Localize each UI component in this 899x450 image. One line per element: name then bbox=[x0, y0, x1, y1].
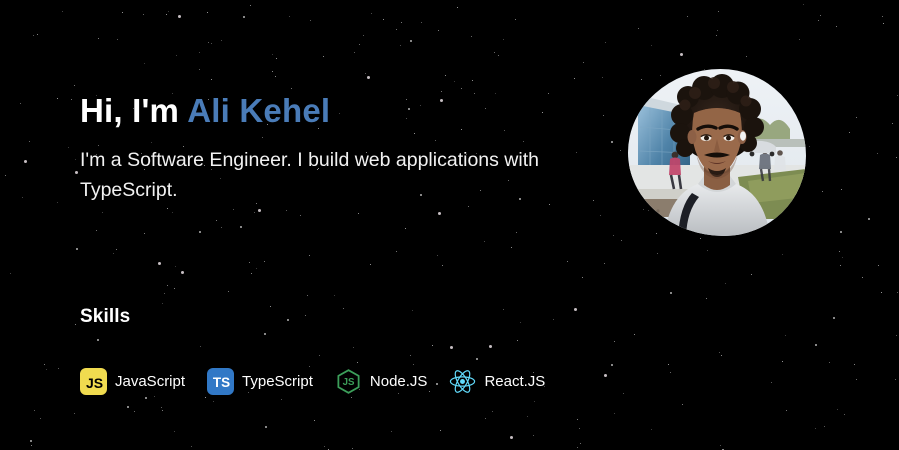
star bbox=[213, 401, 214, 402]
star bbox=[785, 335, 786, 336]
star bbox=[621, 240, 622, 241]
star bbox=[74, 85, 75, 86]
star bbox=[670, 292, 672, 294]
star bbox=[240, 226, 242, 228]
star bbox=[122, 12, 123, 13]
star bbox=[75, 171, 78, 174]
star bbox=[275, 76, 276, 77]
star bbox=[582, 277, 583, 278]
star bbox=[438, 212, 441, 215]
star bbox=[243, 16, 245, 18]
star bbox=[166, 14, 167, 15]
star bbox=[62, 11, 63, 12]
star bbox=[175, 266, 176, 267]
star bbox=[116, 249, 117, 250]
star bbox=[207, 12, 208, 13]
star bbox=[614, 341, 615, 342]
star bbox=[250, 5, 251, 6]
star bbox=[803, 4, 804, 5]
headline-greeting: Hi, I'm bbox=[80, 92, 187, 129]
star bbox=[400, 45, 401, 46]
skills-heading: Skills bbox=[80, 306, 545, 328]
star bbox=[883, 23, 884, 24]
star bbox=[623, 393, 624, 394]
star bbox=[856, 117, 857, 118]
star bbox=[401, 22, 402, 23]
star bbox=[272, 71, 273, 72]
star bbox=[725, 283, 726, 284]
star bbox=[897, 292, 898, 293]
star bbox=[700, 238, 701, 239]
star bbox=[620, 150, 621, 151]
star bbox=[98, 38, 99, 39]
star bbox=[310, 20, 311, 21]
star bbox=[892, 123, 893, 124]
star bbox=[786, 410, 787, 411]
star bbox=[840, 231, 842, 233]
star bbox=[24, 160, 27, 163]
skill-item-javascript[interactable]: JS JavaScript bbox=[80, 368, 185, 395]
star bbox=[687, 16, 688, 17]
star bbox=[553, 319, 554, 320]
star bbox=[143, 14, 144, 15]
star bbox=[324, 446, 325, 447]
profile-photo bbox=[628, 69, 806, 236]
star bbox=[363, 35, 364, 36]
skill-label: JavaScript bbox=[115, 374, 185, 389]
star bbox=[191, 446, 192, 447]
star bbox=[265, 426, 267, 428]
star bbox=[510, 436, 513, 439]
star bbox=[323, 56, 324, 57]
star bbox=[613, 235, 614, 236]
star bbox=[604, 374, 607, 377]
star bbox=[96, 230, 97, 231]
star bbox=[815, 344, 817, 346]
star bbox=[836, 26, 837, 27]
star bbox=[365, 73, 366, 74]
star bbox=[181, 271, 184, 274]
star bbox=[57, 98, 58, 99]
hero-subtitle: I'm a Software Engineer. I build web app… bbox=[80, 130, 610, 205]
star bbox=[719, 352, 720, 353]
star bbox=[682, 404, 683, 405]
star bbox=[454, 81, 455, 82]
star bbox=[44, 364, 45, 365]
star bbox=[383, 19, 384, 20]
star bbox=[291, 88, 292, 89]
star bbox=[134, 411, 135, 412]
star bbox=[438, 30, 439, 31]
star bbox=[396, 251, 397, 252]
star bbox=[839, 251, 840, 252]
star bbox=[40, 418, 41, 419]
star bbox=[515, 19, 516, 20]
star bbox=[421, 22, 422, 23]
skills-list: JS JavaScript TS TypeScript JS Node.JS bbox=[80, 368, 545, 395]
star bbox=[161, 407, 162, 408]
star bbox=[158, 262, 161, 265]
star bbox=[167, 208, 168, 209]
star bbox=[577, 447, 578, 448]
star bbox=[57, 202, 58, 203]
star bbox=[498, 55, 499, 56]
star bbox=[371, 13, 372, 14]
star bbox=[854, 364, 855, 365]
star bbox=[145, 397, 147, 399]
star bbox=[442, 265, 443, 266]
star bbox=[254, 212, 255, 213]
star bbox=[611, 364, 613, 366]
skill-label: TypeScript bbox=[242, 374, 313, 389]
star bbox=[75, 159, 76, 160]
star bbox=[638, 28, 639, 29]
star bbox=[233, 209, 234, 210]
star bbox=[574, 308, 577, 311]
star bbox=[751, 274, 752, 275]
star bbox=[358, 213, 359, 214]
star bbox=[410, 40, 412, 42]
star bbox=[680, 53, 683, 56]
star bbox=[604, 263, 605, 264]
star bbox=[221, 227, 222, 228]
star bbox=[468, 206, 469, 207]
skill-item-nodejs[interactable]: JS Node.JS bbox=[335, 368, 428, 395]
star bbox=[651, 45, 652, 46]
star bbox=[877, 153, 878, 154]
star bbox=[484, 241, 485, 242]
star bbox=[878, 265, 879, 266]
star bbox=[74, 413, 75, 414]
star bbox=[668, 364, 669, 365]
star bbox=[10, 273, 11, 274]
star bbox=[5, 175, 6, 176]
star bbox=[178, 15, 181, 18]
star bbox=[868, 218, 870, 220]
star bbox=[602, 77, 603, 78]
star bbox=[396, 29, 397, 30]
star bbox=[837, 409, 838, 410]
skill-label: React.JS bbox=[484, 374, 545, 389]
skill-item-reactjs[interactable]: React.JS bbox=[449, 368, 545, 395]
star bbox=[809, 146, 810, 147]
star bbox=[533, 435, 534, 436]
star bbox=[842, 257, 843, 258]
star bbox=[577, 419, 578, 420]
star bbox=[34, 410, 35, 411]
star bbox=[820, 15, 821, 16]
star bbox=[154, 396, 155, 397]
star bbox=[216, 220, 217, 221]
star bbox=[307, 295, 308, 296]
star bbox=[896, 335, 897, 336]
star bbox=[113, 253, 114, 254]
star bbox=[162, 410, 163, 411]
star bbox=[822, 191, 823, 192]
star bbox=[471, 36, 472, 37]
star bbox=[76, 248, 78, 250]
star bbox=[815, 428, 816, 429]
star bbox=[856, 379, 857, 380]
avatar bbox=[628, 69, 806, 236]
star bbox=[721, 355, 722, 356]
star bbox=[670, 372, 671, 373]
star bbox=[29, 141, 30, 142]
star bbox=[102, 212, 103, 213]
star bbox=[205, 397, 206, 398]
star bbox=[174, 431, 175, 432]
star bbox=[172, 212, 173, 213]
headline-name: Ali Kehel bbox=[187, 92, 330, 129]
star bbox=[720, 445, 721, 446]
star bbox=[580, 443, 581, 444]
star bbox=[895, 379, 896, 380]
typescript-icon: TS bbox=[207, 368, 234, 395]
star bbox=[844, 414, 845, 415]
star bbox=[264, 261, 265, 262]
star bbox=[574, 78, 575, 79]
star bbox=[897, 95, 898, 96]
javascript-icon: JS bbox=[80, 368, 107, 395]
star bbox=[211, 43, 212, 44]
star bbox=[849, 132, 850, 133]
star bbox=[824, 426, 825, 427]
skill-item-typescript[interactable]: TS TypeScript bbox=[207, 368, 313, 395]
star bbox=[799, 39, 800, 40]
star bbox=[511, 247, 512, 248]
star bbox=[272, 54, 273, 55]
star bbox=[445, 75, 446, 76]
star bbox=[746, 56, 747, 57]
star bbox=[144, 233, 145, 234]
star bbox=[33, 35, 34, 36]
star bbox=[37, 34, 38, 35]
star bbox=[174, 288, 175, 289]
star bbox=[782, 361, 783, 362]
star bbox=[771, 382, 772, 383]
star bbox=[882, 16, 883, 17]
star bbox=[651, 429, 652, 430]
star bbox=[46, 369, 47, 370]
star bbox=[289, 16, 290, 17]
skills-section: Skills JS JavaScript TS TypeScript JS No… bbox=[80, 306, 545, 395]
star bbox=[583, 62, 584, 63]
star bbox=[461, 88, 462, 89]
star bbox=[164, 293, 165, 294]
hero-text-block: Hi, I'm Ali Kehel I'm a Software Enginee… bbox=[80, 92, 620, 205]
star bbox=[176, 55, 177, 56]
star bbox=[527, 416, 528, 417]
star bbox=[717, 30, 718, 31]
star bbox=[334, 295, 335, 296]
star bbox=[833, 317, 835, 319]
star bbox=[782, 254, 783, 255]
star bbox=[405, 228, 406, 229]
star bbox=[862, 277, 863, 278]
star bbox=[228, 291, 229, 292]
star bbox=[258, 209, 261, 212]
star bbox=[492, 411, 493, 412]
star bbox=[457, 7, 458, 8]
star bbox=[251, 273, 252, 274]
star bbox=[22, 197, 23, 198]
star bbox=[221, 40, 222, 41]
star bbox=[437, 255, 438, 256]
star bbox=[249, 262, 250, 263]
star bbox=[391, 431, 392, 432]
star bbox=[370, 264, 371, 265]
star bbox=[472, 80, 473, 81]
star bbox=[818, 20, 819, 21]
star bbox=[352, 448, 353, 449]
star bbox=[71, 99, 72, 100]
star bbox=[440, 430, 441, 431]
star bbox=[600, 215, 601, 216]
star bbox=[579, 428, 580, 429]
star bbox=[31, 445, 32, 446]
star bbox=[614, 413, 615, 414]
star bbox=[840, 265, 841, 266]
star bbox=[211, 79, 212, 80]
star bbox=[256, 268, 257, 269]
portfolio-hero-page: Hi, I'm Ali Kehel I'm a Software Enginee… bbox=[0, 0, 899, 450]
star bbox=[896, 157, 897, 158]
star bbox=[300, 215, 301, 216]
star bbox=[351, 397, 352, 398]
star bbox=[168, 11, 169, 12]
star bbox=[706, 298, 707, 299]
star bbox=[829, 362, 830, 363]
star bbox=[359, 44, 360, 45]
star bbox=[485, 418, 486, 419]
star bbox=[286, 210, 287, 211]
star bbox=[208, 42, 209, 43]
star bbox=[314, 420, 315, 421]
star bbox=[309, 255, 310, 256]
star bbox=[503, 39, 504, 40]
star bbox=[281, 399, 282, 400]
star bbox=[516, 232, 517, 233]
star bbox=[127, 406, 129, 408]
star bbox=[20, 103, 21, 104]
star bbox=[841, 189, 842, 190]
star bbox=[354, 52, 355, 53]
star bbox=[567, 261, 568, 262]
star bbox=[199, 69, 200, 70]
star bbox=[162, 303, 163, 304]
reactjs-icon bbox=[449, 368, 476, 395]
star bbox=[605, 42, 606, 43]
star bbox=[881, 292, 882, 293]
star bbox=[58, 368, 59, 369]
star bbox=[68, 147, 69, 148]
star bbox=[199, 231, 201, 233]
star bbox=[494, 52, 495, 53]
star bbox=[144, 63, 145, 64]
page-title: Hi, I'm Ali Kehel bbox=[80, 92, 620, 130]
star bbox=[716, 35, 717, 36]
star bbox=[534, 401, 535, 402]
star bbox=[707, 250, 708, 251]
star bbox=[276, 58, 277, 59]
star bbox=[634, 334, 635, 335]
star bbox=[367, 76, 370, 79]
star bbox=[657, 253, 658, 254]
star bbox=[167, 285, 168, 286]
star bbox=[199, 52, 200, 53]
svg-text:JS: JS bbox=[342, 377, 354, 388]
star bbox=[117, 39, 118, 40]
star bbox=[718, 11, 719, 12]
nodejs-icon: JS bbox=[335, 368, 362, 395]
star bbox=[75, 324, 76, 325]
skill-label: Node.JS bbox=[370, 374, 428, 389]
star bbox=[30, 440, 32, 442]
